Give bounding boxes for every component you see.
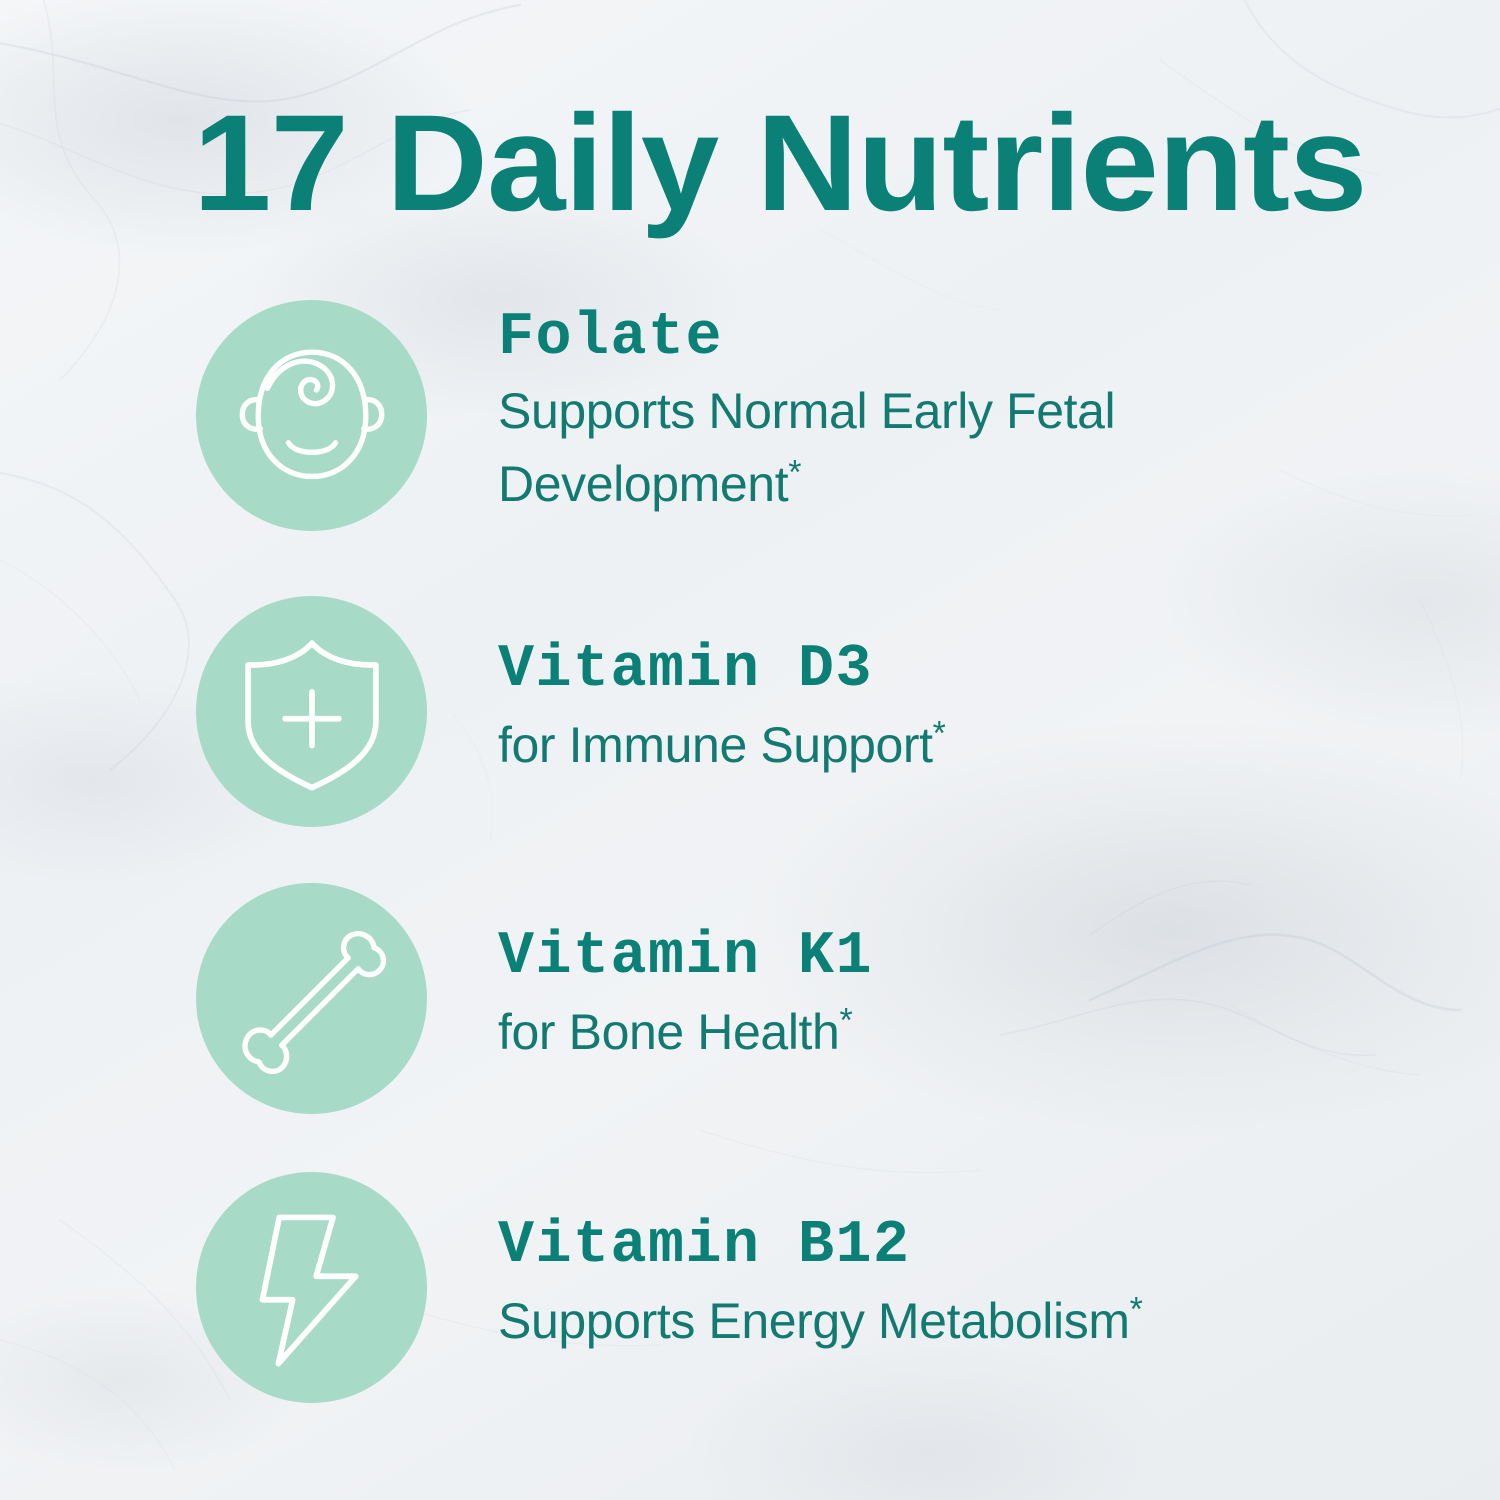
nutrient-name: Vitamin B12 bbox=[498, 1215, 1438, 1277]
nutrient-text-block: Folate Supports Normal Early Fetal Devel… bbox=[498, 296, 1438, 532]
baby-face-icon bbox=[196, 300, 427, 531]
nutrient-text-block: Vitamin B12 Supports Energy Metabolism* bbox=[498, 1168, 1438, 1404]
nutrient-name: Vitamin D3 bbox=[498, 639, 1438, 701]
nutrient-description: for Bone Health* bbox=[498, 997, 1398, 1068]
nutrient-item-vitamin-d3: Vitamin D3 for Immune Support* bbox=[0, 592, 1500, 828]
nutrient-description-text: Supports Normal Early Fetal Development bbox=[498, 383, 1115, 512]
nutrient-name: Folate bbox=[498, 307, 1438, 369]
nutrient-name: Vitamin K1 bbox=[498, 926, 1438, 988]
footnote-asterisk: * bbox=[1130, 1290, 1143, 1328]
page-title: 17 Daily Nutrients bbox=[193, 95, 1408, 232]
nutrient-item-vitamin-k1: Vitamin K1 for Bone Health* bbox=[0, 879, 1500, 1115]
nutrient-item-folate: Folate Supports Normal Early Fetal Devel… bbox=[0, 296, 1500, 532]
nutrient-description-text: Supports Energy Metabolism bbox=[498, 1293, 1130, 1349]
nutrient-description: Supports Energy Metabolism* bbox=[498, 1286, 1398, 1357]
nutrient-description-text: for Immune Support bbox=[498, 717, 933, 773]
footnote-asterisk: * bbox=[933, 714, 946, 752]
nutrient-item-vitamin-b12: Vitamin B12 Supports Energy Metabolism* bbox=[0, 1168, 1500, 1404]
footnote-asterisk: * bbox=[839, 1001, 852, 1039]
lightning-bolt-icon bbox=[196, 1172, 427, 1403]
nutrient-description: for Immune Support* bbox=[498, 710, 1398, 781]
nutrient-description: Supports Normal Early Fetal Development* bbox=[498, 375, 1398, 521]
bone-icon bbox=[196, 883, 427, 1114]
nutrient-infographic: 17 Daily Nutrients Folate Supports Norma… bbox=[0, 0, 1500, 1500]
footnote-asterisk: * bbox=[788, 454, 801, 492]
nutrient-text-block: Vitamin K1 for Bone Health* bbox=[498, 879, 1438, 1115]
nutrient-text-block: Vitamin D3 for Immune Support* bbox=[498, 592, 1438, 828]
shield-plus-icon bbox=[196, 596, 427, 827]
nutrient-description-text: for Bone Health bbox=[498, 1004, 839, 1060]
